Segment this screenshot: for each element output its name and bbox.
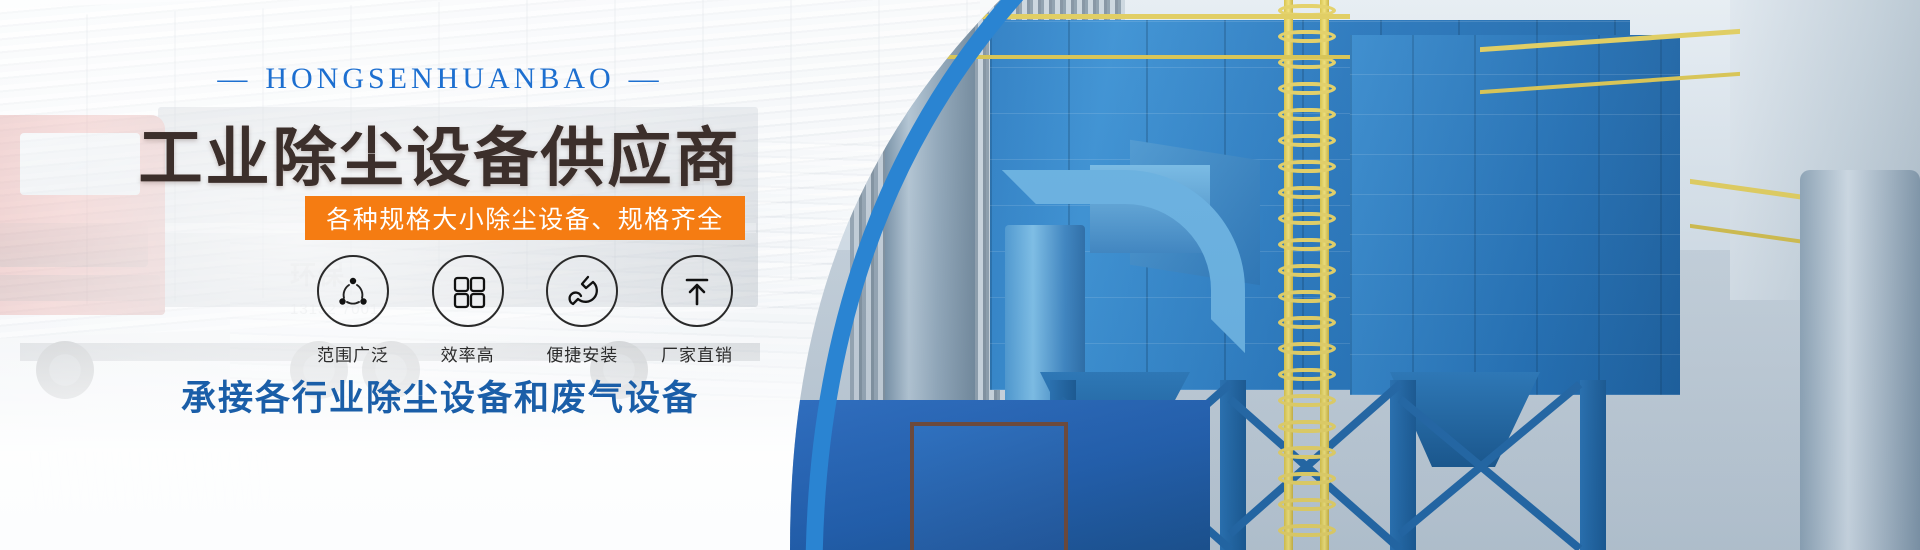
feature-list: 范围广泛 效率高 xyxy=(305,255,745,366)
feature-item-install[interactable]: 便捷安装 xyxy=(534,255,630,366)
network-share-icon xyxy=(317,255,389,327)
feature-item-efficiency[interactable]: 效率高 xyxy=(420,255,516,366)
eyebrow-text: HONGSENHUANBAO xyxy=(265,62,614,95)
tagline: 承接各行业除尘设备和废气设备 xyxy=(0,370,880,421)
hero-banner: 环保 13132 7001 xyxy=(0,0,1920,550)
orange-ribbon: 各种规格大小除尘设备、规格齐全 xyxy=(305,196,745,240)
brand-eyebrow: —HONGSENHUANBAO— xyxy=(0,62,880,96)
feature-item-range[interactable]: 范围广泛 xyxy=(305,255,401,366)
photo-tint-overlay xyxy=(790,0,1920,550)
upload-arrow-icon xyxy=(661,255,733,327)
wrench-icon xyxy=(546,255,618,327)
feature-label: 厂家直销 xyxy=(661,341,733,366)
eyebrow-dash-right: — xyxy=(629,62,663,96)
banner-content: —HONGSENHUANBAO— 工业除尘设备供应商 各种规格大小除尘设备、规格… xyxy=(0,0,880,550)
feature-label: 范围广泛 xyxy=(317,341,389,366)
grid-squares-icon xyxy=(432,255,504,327)
eyebrow-dash-left: — xyxy=(217,62,251,96)
feature-label: 效率高 xyxy=(441,341,495,366)
headline: 工业除尘设备供应商 xyxy=(0,107,880,199)
industrial-photo xyxy=(790,0,1920,550)
feature-item-factory-direct[interactable]: 厂家直销 xyxy=(649,255,745,366)
ribbon-text: 各种规格大小除尘设备、规格齐全 xyxy=(326,200,724,236)
feature-label: 便捷安装 xyxy=(546,341,618,366)
